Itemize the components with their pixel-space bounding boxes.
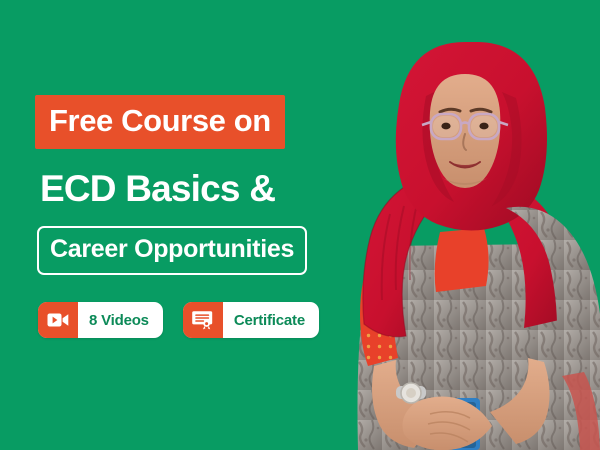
video-camera-icon: [38, 302, 78, 338]
headline-outline: Career Opportunities: [37, 226, 307, 275]
certificate-icon: [183, 302, 223, 338]
badge-certificate[interactable]: Certificate: [183, 302, 319, 338]
headline-main: ECD Basics &: [40, 170, 335, 207]
promo-banner: Free Course on ECD Basics & Career Oppor…: [0, 0, 600, 450]
badge-videos[interactable]: 8 Videos: [38, 302, 163, 338]
feature-badges: 8 Videos Certificate: [38, 302, 319, 338]
headline-chip: Free Course on: [35, 95, 285, 149]
badge-certificate-label: Certificate: [223, 302, 319, 338]
person-photo: [330, 0, 600, 450]
badge-videos-label: 8 Videos: [78, 302, 163, 338]
headline-group: Free Course on ECD Basics & Career Oppor…: [35, 95, 335, 275]
